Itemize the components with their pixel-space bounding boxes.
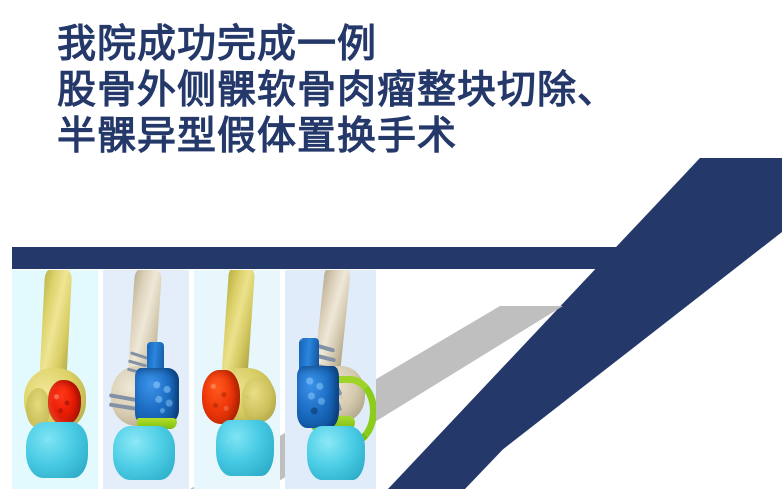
tibia-plateau [307, 426, 365, 480]
tumor-texture [206, 378, 234, 416]
page-title: 我院成功完成一例 股骨外侧髁软骨肉瘤整块切除、 半髁异型假体置换手术 [57, 22, 677, 160]
prosthesis-porous-texture [151, 378, 177, 416]
prosthesis-porous-texture [303, 374, 331, 418]
title-line-2: 股骨外侧髁软骨肉瘤整块切除、 [57, 68, 677, 114]
poster-root: 我院成功完成一例 股骨外侧髁软骨肉瘤整块切除、 半髁异型假体置换手术 [0, 0, 782, 489]
femur-condyle-posterior [242, 378, 276, 422]
tumor-texture [52, 390, 74, 418]
reconstruction-panel-1 [12, 270, 98, 489]
reconstruction-panel-3 [194, 270, 280, 489]
tibia-plateau [113, 426, 175, 480]
reconstruction-panel-2 [103, 270, 189, 489]
tibia-plateau [26, 422, 88, 478]
title-line-1: 我院成功完成一例 [57, 22, 677, 68]
tibia-plateau [216, 420, 274, 476]
title-line-3: 半髁异型假体置换手术 [57, 114, 677, 160]
navy-horizontal-bar [12, 247, 624, 269]
reconstruction-panel-4 [285, 270, 376, 489]
reconstruction-image-strip [12, 270, 378, 489]
